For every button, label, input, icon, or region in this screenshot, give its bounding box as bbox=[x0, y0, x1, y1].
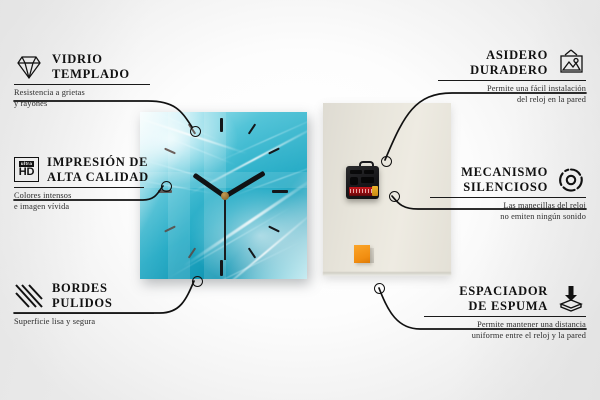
infographic-canvas: VIDRIO TEMPLADO Resistencia a grietas y … bbox=[0, 0, 600, 400]
callout-bordes-pulidos: BORDES PULIDOS Superficie lisa y segura bbox=[14, 281, 159, 328]
callout-rule bbox=[14, 84, 150, 85]
callout-sub-line2: del reloj en la pared bbox=[438, 95, 586, 105]
callout-sub-line1: Superficie lisa y segura bbox=[14, 317, 159, 327]
callout-sub-line2: e imagen vívida bbox=[14, 202, 159, 212]
callout-dot-bordes bbox=[192, 276, 203, 287]
callout-vidrio-templado: VIDRIO TEMPLADO Resistencia a grietas y … bbox=[14, 52, 154, 109]
diamond-icon bbox=[14, 54, 44, 80]
callout-dot-vidrio-templado bbox=[190, 126, 201, 137]
callout-sub-line2: y rayones bbox=[14, 99, 154, 109]
callout-impresion-alta-calidad: ultra HD IMPRESIÓN DE ALTA CALIDAD Color… bbox=[14, 155, 159, 212]
gear-icon bbox=[556, 166, 586, 194]
callout-dot-espaciador bbox=[374, 283, 385, 294]
callout-title-line1: BORDES bbox=[52, 281, 112, 296]
callout-rule bbox=[14, 187, 144, 188]
callout-sub-line1: Resistencia a grietas bbox=[14, 88, 154, 98]
callout-title-line2: TEMPLADO bbox=[52, 67, 130, 82]
callout-title-line2: DURADERO bbox=[470, 63, 548, 78]
diagonal-lines-icon bbox=[14, 283, 44, 309]
framed-picture-on-wall-icon bbox=[556, 49, 586, 76]
callout-sub-line2: uniforme entre el reloj y la pared bbox=[424, 331, 586, 341]
callout-title-line2: DE ESPUMA bbox=[459, 299, 548, 314]
callout-dot-mecanismo bbox=[389, 191, 400, 202]
callout-title-line1: IMPRESIÓN DE bbox=[47, 155, 149, 170]
callout-title-line1: VIDRIO bbox=[52, 52, 130, 67]
callout-dot-impresion bbox=[161, 181, 172, 192]
callout-sub-line1: Permite mantener una distancia bbox=[424, 320, 586, 330]
callout-sub-line1: Colores intensos bbox=[14, 191, 159, 201]
callout-espaciador-de-espuma: ESPACIADOR DE ESPUMA Permite mantener un… bbox=[424, 284, 586, 341]
callout-mecanismo-silencioso: MECANISMO SILENCIOSO Las manecillas del … bbox=[430, 165, 586, 222]
callout-title-line1: MECANISMO bbox=[461, 165, 548, 180]
callout-sub-line1: Permite una fácil instalación bbox=[438, 84, 586, 94]
callout-title-line1: ESPACIADOR bbox=[459, 284, 548, 299]
callout-sub-line1: Las manecillas del reloj bbox=[430, 201, 586, 211]
callout-title-line2: ALTA CALIDAD bbox=[47, 170, 149, 185]
ultra-hd-badge-icon: ultra HD bbox=[14, 157, 39, 182]
callout-rule bbox=[14, 313, 154, 314]
callout-rule bbox=[424, 316, 586, 317]
callout-title-line2: SILENCIOSO bbox=[461, 180, 548, 195]
callout-title-line1: ASIDERO bbox=[470, 48, 548, 63]
callout-title-line2: PULIDOS bbox=[52, 296, 112, 311]
callout-rule bbox=[430, 197, 586, 198]
callout-dot-asidero bbox=[381, 156, 392, 167]
badge-large-text: HD bbox=[19, 167, 35, 178]
callout-rule bbox=[438, 80, 586, 81]
callout-sub-line2: no emiten ningún sonido bbox=[430, 212, 586, 222]
down-arrow-onto-pad-icon bbox=[556, 285, 586, 312]
callout-asidero-duradero: ASIDERO DURADERO Permite una fácil insta… bbox=[438, 48, 586, 105]
